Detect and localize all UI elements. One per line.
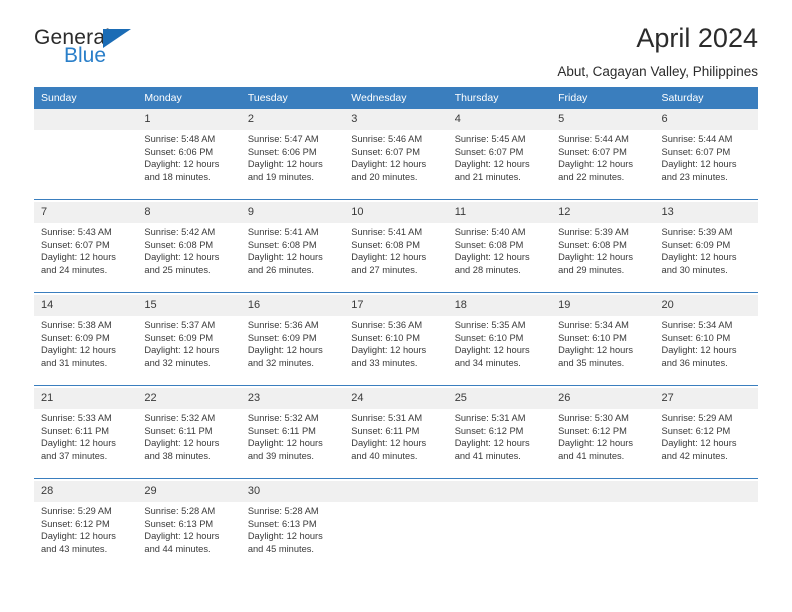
daylight-text-line2: and 25 minutes. [144,264,234,277]
daylight-text-line2: and 18 minutes. [144,171,234,184]
daylight-text-line1: Daylight: 12 hours [248,344,338,357]
sunset-text: Sunset: 6:10 PM [558,332,648,345]
day-number[interactable]: 5 [551,109,654,130]
day-number[interactable]: 22 [137,388,240,409]
sunset-text: Sunset: 6:12 PM [455,425,545,438]
daylight-text-line2: and 23 minutes. [662,171,752,184]
daylight-text-line1: Daylight: 12 hours [351,158,441,171]
day-cell-empty [448,502,551,571]
day-cell: Sunrise: 5:28 AMSunset: 6:13 PMDaylight:… [241,502,344,571]
day-detail-row: Sunrise: 5:48 AMSunset: 6:06 PMDaylight:… [34,130,758,200]
calendar-header-row: Sunday Monday Tuesday Wednesday Thursday… [34,87,758,109]
sunrise-text: Sunrise: 5:43 AM [41,226,131,239]
day-cell: Sunrise: 5:36 AMSunset: 6:09 PMDaylight:… [241,316,344,386]
daylight-text-line1: Daylight: 12 hours [144,251,234,264]
weekday-header-saturday: Saturday [655,87,758,109]
day-number[interactable]: 27 [655,388,758,409]
sunrise-text: Sunrise: 5:32 AM [144,412,234,425]
day-cell: Sunrise: 5:44 AMSunset: 6:07 PMDaylight:… [655,130,758,200]
sunrise-text: Sunrise: 5:36 AM [351,319,441,332]
sunset-text: Sunset: 6:09 PM [662,239,752,252]
day-cell: Sunrise: 5:29 AMSunset: 6:12 PMDaylight:… [655,409,758,479]
sunrise-text: Sunrise: 5:44 AM [558,133,648,146]
day-number[interactable]: 11 [448,202,551,223]
daylight-text-line1: Daylight: 12 hours [662,437,752,450]
day-number[interactable]: 24 [344,388,447,409]
general-blue-logo: General Blue [34,26,214,72]
sunrise-text: Sunrise: 5:34 AM [558,319,648,332]
day-number-row: 14151617181920 [34,295,758,316]
day-number[interactable]: 18 [448,295,551,316]
daylight-text-line1: Daylight: 12 hours [455,437,545,450]
day-number-row: 123456 [34,109,758,130]
day-number[interactable]: 20 [655,295,758,316]
day-cell-empty [551,502,654,571]
sunset-text: Sunset: 6:07 PM [455,146,545,159]
daylight-text-line1: Daylight: 12 hours [558,158,648,171]
weekday-header-thursday: Thursday [448,87,551,109]
day-cell: Sunrise: 5:39 AMSunset: 6:09 PMDaylight:… [655,223,758,293]
sunset-text: Sunset: 6:10 PM [455,332,545,345]
day-number[interactable]: 4 [448,109,551,130]
sunset-text: Sunset: 6:11 PM [41,425,131,438]
sunset-text: Sunset: 6:10 PM [351,332,441,345]
day-number[interactable]: 8 [137,202,240,223]
daylight-text-line2: and 20 minutes. [351,171,441,184]
daylight-text-line2: and 29 minutes. [558,264,648,277]
day-number[interactable]: 29 [137,481,240,502]
sunset-text: Sunset: 6:06 PM [248,146,338,159]
sunset-text: Sunset: 6:08 PM [144,239,234,252]
sunrise-text: Sunrise: 5:42 AM [144,226,234,239]
daylight-text-line2: and 28 minutes. [455,264,545,277]
day-cell: Sunrise: 5:32 AMSunset: 6:11 PMDaylight:… [137,409,240,479]
day-number[interactable]: 23 [241,388,344,409]
daylight-text-line1: Daylight: 12 hours [662,344,752,357]
sunrise-text: Sunrise: 5:35 AM [455,319,545,332]
weekday-header-friday: Friday [551,87,654,109]
day-cell: Sunrise: 5:35 AMSunset: 6:10 PMDaylight:… [448,316,551,386]
day-number[interactable]: 28 [34,481,137,502]
daylight-text-line2: and 44 minutes. [144,543,234,556]
sunrise-text: Sunrise: 5:33 AM [41,412,131,425]
triangle-icon [103,29,131,48]
day-number[interactable]: 30 [241,481,344,502]
day-number[interactable]: 9 [241,202,344,223]
daylight-text-line2: and 45 minutes. [248,543,338,556]
sunset-text: Sunset: 6:09 PM [248,332,338,345]
day-number[interactable]: 10 [344,202,447,223]
daylight-text-line2: and 41 minutes. [558,450,648,463]
sunset-text: Sunset: 6:13 PM [144,518,234,531]
sunrise-text: Sunrise: 5:40 AM [455,226,545,239]
day-number-empty [551,481,654,502]
day-cell: Sunrise: 5:41 AMSunset: 6:08 PMDaylight:… [241,223,344,293]
day-cell: Sunrise: 5:34 AMSunset: 6:10 PMDaylight:… [655,316,758,386]
sunrise-text: Sunrise: 5:31 AM [351,412,441,425]
day-cell: Sunrise: 5:45 AMSunset: 6:07 PMDaylight:… [448,130,551,200]
sunrise-text: Sunrise: 5:48 AM [144,133,234,146]
sunrise-text: Sunrise: 5:47 AM [248,133,338,146]
day-number[interactable]: 14 [34,295,137,316]
day-detail-row: Sunrise: 5:43 AMSunset: 6:07 PMDaylight:… [34,223,758,293]
daylight-text-line1: Daylight: 12 hours [351,251,441,264]
day-number[interactable]: 3 [344,109,447,130]
daylight-text-line2: and 41 minutes. [455,450,545,463]
daylight-text-line1: Daylight: 12 hours [248,437,338,450]
daylight-text-line1: Daylight: 12 hours [351,437,441,450]
weekday-header-tuesday: Tuesday [241,87,344,109]
day-cell-empty [655,502,758,571]
sunset-text: Sunset: 6:12 PM [558,425,648,438]
day-number[interactable]: 12 [551,202,654,223]
sunset-text: Sunset: 6:13 PM [248,518,338,531]
daylight-text-line2: and 32 minutes. [248,357,338,370]
day-number[interactable]: 1 [137,109,240,130]
day-number-row: 21222324252627 [34,388,758,409]
day-cell: Sunrise: 5:30 AMSunset: 6:12 PMDaylight:… [551,409,654,479]
sunrise-text: Sunrise: 5:34 AM [662,319,752,332]
sunset-text: Sunset: 6:08 PM [351,239,441,252]
sunset-text: Sunset: 6:06 PM [144,146,234,159]
daylight-text-line1: Daylight: 12 hours [144,158,234,171]
day-cell: Sunrise: 5:38 AMSunset: 6:09 PMDaylight:… [34,316,137,386]
sunrise-text: Sunrise: 5:44 AM [662,133,752,146]
daylight-text-line2: and 39 minutes. [248,450,338,463]
day-detail-row: Sunrise: 5:38 AMSunset: 6:09 PMDaylight:… [34,316,758,386]
daylight-text-line2: and 21 minutes. [455,171,545,184]
day-number[interactable]: 21 [34,388,137,409]
day-cell: Sunrise: 5:37 AMSunset: 6:09 PMDaylight:… [137,316,240,386]
day-number[interactable]: 16 [241,295,344,316]
sunrise-text: Sunrise: 5:32 AM [248,412,338,425]
day-number[interactable]: 15 [137,295,240,316]
daylight-text-line2: and 42 minutes. [662,450,752,463]
daylight-text-line2: and 31 minutes. [41,357,131,370]
day-cell: Sunrise: 5:31 AMSunset: 6:11 PMDaylight:… [344,409,447,479]
sunset-text: Sunset: 6:07 PM [662,146,752,159]
day-cell: Sunrise: 5:41 AMSunset: 6:08 PMDaylight:… [344,223,447,293]
sunset-text: Sunset: 6:09 PM [144,332,234,345]
day-cell: Sunrise: 5:33 AMSunset: 6:11 PMDaylight:… [34,409,137,479]
day-cell: Sunrise: 5:34 AMSunset: 6:10 PMDaylight:… [551,316,654,386]
daylight-text-line2: and 26 minutes. [248,264,338,277]
sunset-text: Sunset: 6:07 PM [558,146,648,159]
day-number-row: 78910111213 [34,202,758,223]
day-number[interactable]: 19 [551,295,654,316]
daylight-text-line1: Daylight: 12 hours [41,344,131,357]
day-cell: Sunrise: 5:36 AMSunset: 6:10 PMDaylight:… [344,316,447,386]
daylight-text-line2: and 38 minutes. [144,450,234,463]
day-number[interactable]: 7 [34,202,137,223]
day-cell-empty [344,502,447,571]
day-number[interactable]: 2 [241,109,344,130]
calendar-body: 123456Sunrise: 5:48 AMSunset: 6:06 PMDay… [34,109,758,571]
sunrise-text: Sunrise: 5:41 AM [248,226,338,239]
sunrise-text: Sunrise: 5:28 AM [248,505,338,518]
day-number[interactable]: 6 [655,109,758,130]
sunset-text: Sunset: 6:10 PM [662,332,752,345]
daylight-text-line1: Daylight: 12 hours [41,437,131,450]
day-number-empty [655,481,758,502]
sunset-text: Sunset: 6:07 PM [41,239,131,252]
sunset-text: Sunset: 6:11 PM [144,425,234,438]
daylight-text-line1: Daylight: 12 hours [144,437,234,450]
sunrise-text: Sunrise: 5:41 AM [351,226,441,239]
daylight-text-line2: and 36 minutes. [662,357,752,370]
sunset-text: Sunset: 6:12 PM [41,518,131,531]
sunrise-text: Sunrise: 5:29 AM [41,505,131,518]
day-cell: Sunrise: 5:29 AMSunset: 6:12 PMDaylight:… [34,502,137,571]
daylight-text-line1: Daylight: 12 hours [41,251,131,264]
sunrise-text: Sunrise: 5:46 AM [351,133,441,146]
daylight-text-line1: Daylight: 12 hours [144,344,234,357]
day-number[interactable]: 25 [448,388,551,409]
weekday-header-wednesday: Wednesday [344,87,447,109]
daylight-text-line1: Daylight: 12 hours [455,344,545,357]
daylight-text-line2: and 43 minutes. [41,543,131,556]
page-header: General Blue April 2024 Abut, Cagayan Va… [34,0,758,76]
daylight-text-line2: and 27 minutes. [351,264,441,277]
sunset-text: Sunset: 6:08 PM [455,239,545,252]
day-cell: Sunrise: 5:39 AMSunset: 6:08 PMDaylight:… [551,223,654,293]
sunset-text: Sunset: 6:08 PM [248,239,338,252]
day-cell-empty [34,130,137,200]
daylight-text-line2: and 30 minutes. [662,264,752,277]
sunset-text: Sunset: 6:09 PM [41,332,131,345]
day-number-empty [448,481,551,502]
day-number-empty [34,109,137,130]
daylight-text-line2: and 19 minutes. [248,171,338,184]
day-cell: Sunrise: 5:31 AMSunset: 6:12 PMDaylight:… [448,409,551,479]
sunrise-text: Sunrise: 5:36 AM [248,319,338,332]
day-cell: Sunrise: 5:42 AMSunset: 6:08 PMDaylight:… [137,223,240,293]
sunrise-text: Sunrise: 5:38 AM [41,319,131,332]
daylight-text-line1: Daylight: 12 hours [144,530,234,543]
sunrise-text: Sunrise: 5:37 AM [144,319,234,332]
day-number[interactable]: 26 [551,388,654,409]
daylight-text-line1: Daylight: 12 hours [455,158,545,171]
daylight-text-line1: Daylight: 12 hours [558,251,648,264]
daylight-text-line2: and 32 minutes. [144,357,234,370]
day-cell: Sunrise: 5:47 AMSunset: 6:06 PMDaylight:… [241,130,344,200]
calendar-page: General Blue April 2024 Abut, Cagayan Va… [0,0,792,612]
day-number-empty [344,481,447,502]
logo-text-blue: Blue [64,44,106,68]
daylight-text-line1: Daylight: 12 hours [351,344,441,357]
sunrise-text: Sunrise: 5:29 AM [662,412,752,425]
daylight-text-line1: Daylight: 12 hours [455,251,545,264]
daylight-text-line1: Daylight: 12 hours [41,530,131,543]
sunrise-text: Sunrise: 5:31 AM [455,412,545,425]
weekday-header-sunday: Sunday [34,87,137,109]
weekday-header-monday: Monday [137,87,240,109]
sunset-text: Sunset: 6:08 PM [558,239,648,252]
sunset-text: Sunset: 6:12 PM [662,425,752,438]
day-detail-row: Sunrise: 5:33 AMSunset: 6:11 PMDaylight:… [34,409,758,479]
day-cell: Sunrise: 5:43 AMSunset: 6:07 PMDaylight:… [34,223,137,293]
daylight-text-line1: Daylight: 12 hours [248,158,338,171]
daylight-text-line1: Daylight: 12 hours [662,251,752,264]
day-number[interactable]: 17 [344,295,447,316]
day-cell: Sunrise: 5:44 AMSunset: 6:07 PMDaylight:… [551,130,654,200]
day-detail-row: Sunrise: 5:29 AMSunset: 6:12 PMDaylight:… [34,502,758,571]
day-cell: Sunrise: 5:46 AMSunset: 6:07 PMDaylight:… [344,130,447,200]
day-cell: Sunrise: 5:32 AMSunset: 6:11 PMDaylight:… [241,409,344,479]
sunrise-text: Sunrise: 5:39 AM [558,226,648,239]
daylight-text-line1: Daylight: 12 hours [558,437,648,450]
daylight-text-line2: and 37 minutes. [41,450,131,463]
day-cell: Sunrise: 5:28 AMSunset: 6:13 PMDaylight:… [137,502,240,571]
daylight-text-line2: and 35 minutes. [558,357,648,370]
daylight-text-line2: and 22 minutes. [558,171,648,184]
daylight-text-line2: and 40 minutes. [351,450,441,463]
sunrise-sunset-calendar: Sunday Monday Tuesday Wednesday Thursday… [34,87,758,571]
day-cell: Sunrise: 5:40 AMSunset: 6:08 PMDaylight:… [448,223,551,293]
daylight-text-line2: and 33 minutes. [351,357,441,370]
sunrise-text: Sunrise: 5:45 AM [455,133,545,146]
sunset-text: Sunset: 6:07 PM [351,146,441,159]
sunrise-text: Sunrise: 5:39 AM [662,226,752,239]
sunrise-text: Sunrise: 5:30 AM [558,412,648,425]
sunrise-text: Sunrise: 5:28 AM [144,505,234,518]
daylight-text-line1: Daylight: 12 hours [662,158,752,171]
daylight-text-line2: and 34 minutes. [455,357,545,370]
daylight-text-line2: and 24 minutes. [41,264,131,277]
sunset-text: Sunset: 6:11 PM [248,425,338,438]
day-cell: Sunrise: 5:48 AMSunset: 6:06 PMDaylight:… [137,130,240,200]
daylight-text-line1: Daylight: 12 hours [248,530,338,543]
sunset-text: Sunset: 6:11 PM [351,425,441,438]
day-number[interactable]: 13 [655,202,758,223]
daylight-text-line1: Daylight: 12 hours [558,344,648,357]
daylight-text-line1: Daylight: 12 hours [248,251,338,264]
day-number-row: 282930 [34,481,758,502]
